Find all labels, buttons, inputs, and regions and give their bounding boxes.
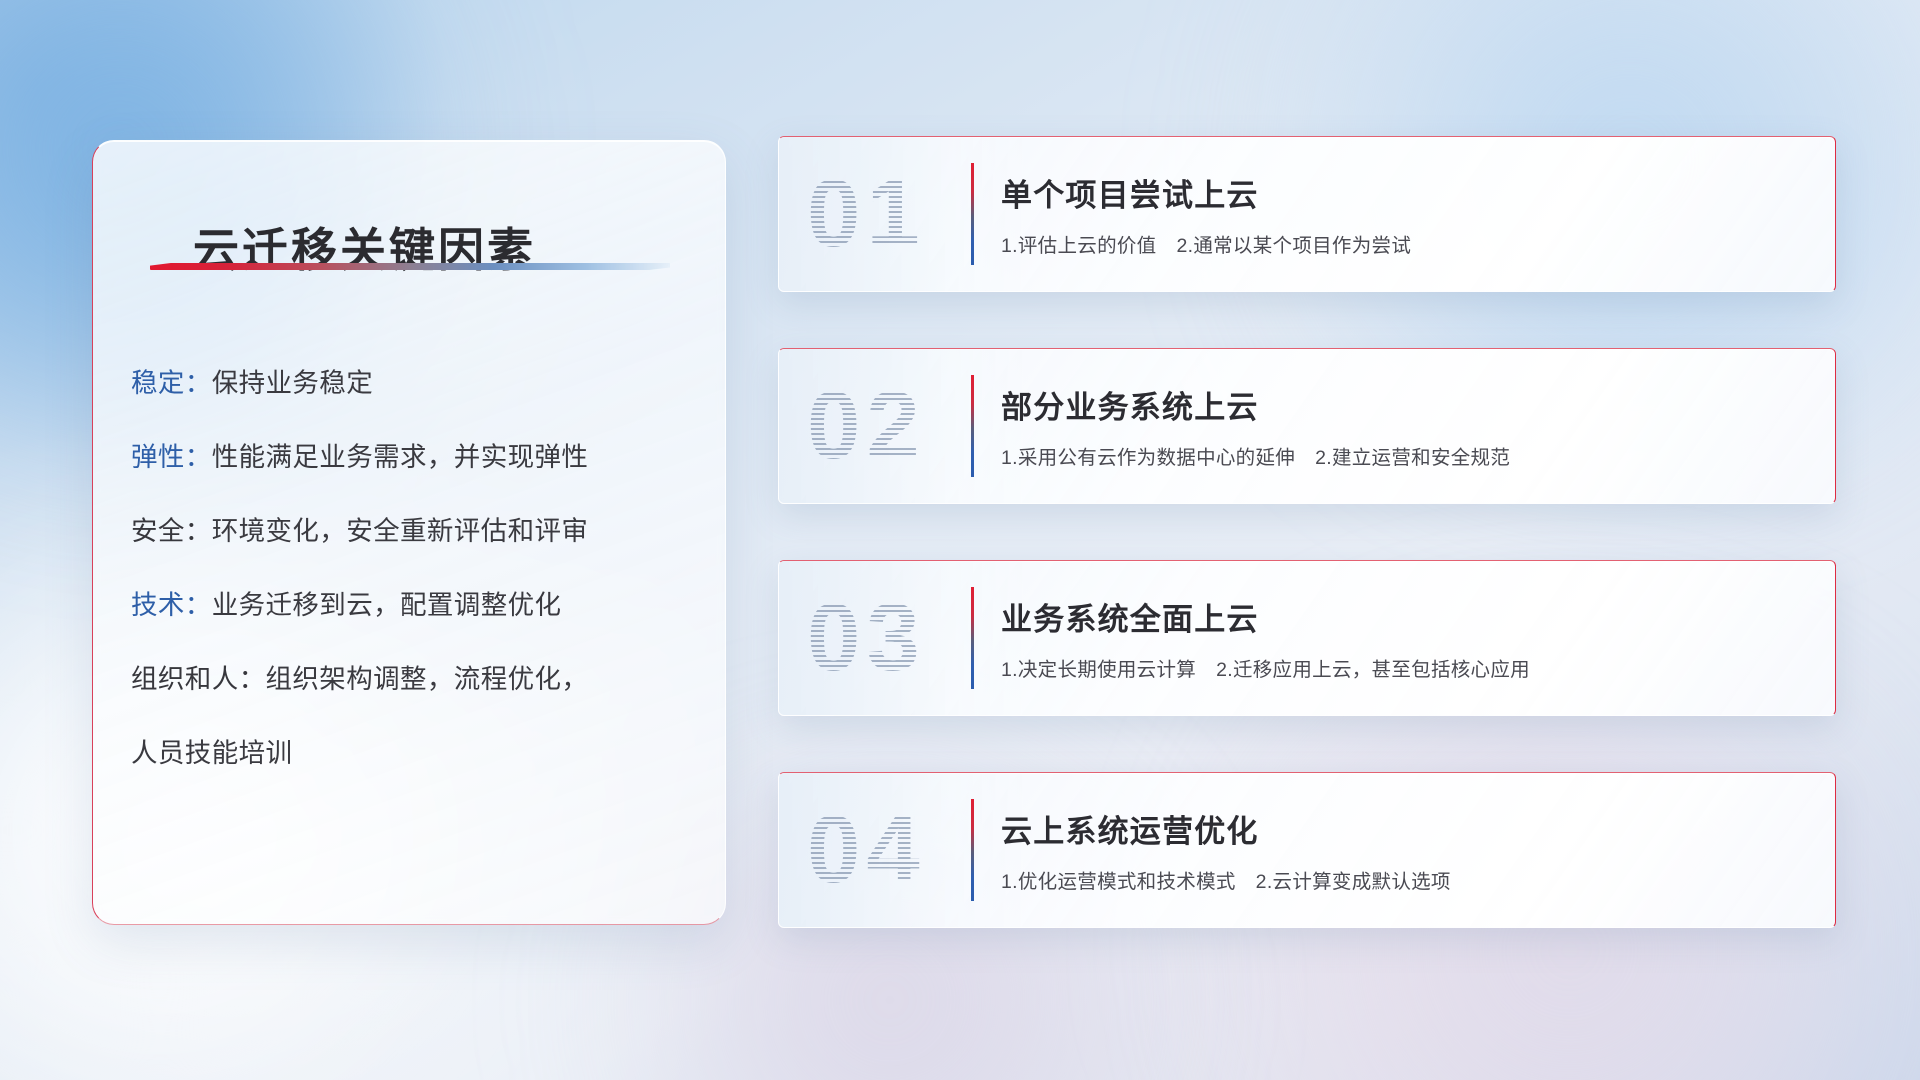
card-divider-accent (971, 799, 974, 901)
card-point-1: 1.决定长期使用云计算 (1001, 659, 1196, 681)
stage-card-01[interactable]: 01单个项目尝试上云1.评估上云的价值2.通常以某个项目作为尝试 (778, 136, 1836, 292)
stage-card-03[interactable]: 03业务系统全面上云1.决定长期使用云计算2.迁移应用上云，甚至包括核心应用 (778, 560, 1836, 716)
card-title: 单个项目尝试上云 (1001, 170, 1809, 215)
factor-text: 性能满足业务需求，并实现弹性 (212, 442, 589, 472)
card-point-2: 2.通常以某个项目作为尝试 (1176, 235, 1411, 257)
stage-number: 01 (807, 166, 926, 262)
slide-canvas: 云迁移关键因素 稳定：保持业务稳定弹性：性能满足业务需求，并实现弹性安全：环境变… (0, 0, 1920, 1080)
card-subtitle: 1.决定长期使用云计算2.迁移应用上云，甚至包括核心应用 (1001, 653, 1809, 682)
card-body: 单个项目尝试上云1.评估上云的价值2.通常以某个项目作为尝试 (1001, 170, 1809, 258)
key-factors-panel: 云迁移关键因素 稳定：保持业务稳定弹性：性能满足业务需求，并实现弹性安全：环境变… (92, 140, 726, 925)
card-body: 业务系统全面上云1.决定长期使用云计算2.迁移应用上云，甚至包括核心应用 (1001, 594, 1809, 682)
card-point-2: 2.建立运营和安全规范 (1315, 447, 1510, 469)
factor-text: 环境变化，安全重新评估和评审 (212, 516, 589, 546)
card-divider-accent (971, 163, 974, 265)
factor-text: 业务迁移到云，配置调整优化 (212, 590, 562, 620)
factor-row: 人员技能培训 (131, 716, 699, 790)
factor-row: 稳定：保持业务稳定 (131, 346, 699, 420)
card-point-1: 1.采用公有云作为数据中心的延伸 (1001, 447, 1295, 469)
factor-label: 技术： (131, 590, 212, 620)
stage-card-04[interactable]: 04云上系统运营优化1.优化运营模式和技术模式2.云计算变成默认选项 (778, 772, 1836, 928)
card-subtitle: 1.评估上云的价值2.通常以某个项目作为尝试 (1001, 229, 1809, 258)
card-title: 云上系统运营优化 (1001, 806, 1809, 851)
migration-stage-card-list: 01单个项目尝试上云1.评估上云的价值2.通常以某个项目作为尝试02部分业务系统… (778, 136, 1836, 984)
factor-list: 稳定：保持业务稳定弹性：性能满足业务需求，并实现弹性安全：环境变化，安全重新评估… (131, 346, 699, 790)
card-subtitle: 1.采用公有云作为数据中心的延伸2.建立运营和安全规范 (1001, 441, 1809, 470)
card-point-2: 2.迁移应用上云，甚至包括核心应用 (1216, 659, 1530, 681)
card-point-1: 1.评估上云的价值 (1001, 235, 1156, 257)
factor-row: 技术：业务迁移到云，配置调整优化 (131, 568, 699, 642)
factor-text: 组织架构调整，流程优化， (266, 664, 589, 694)
title-underline-accent (150, 263, 670, 270)
factor-row: 安全：环境变化，安全重新评估和评审 (131, 494, 699, 568)
factor-text: 人员技能培训 (131, 738, 292, 768)
card-body: 部分业务系统上云1.采用公有云作为数据中心的延伸2.建立运营和安全规范 (1001, 382, 1809, 470)
factor-label: 安全： (131, 516, 212, 546)
card-title: 业务系统全面上云 (1001, 594, 1809, 639)
card-title: 部分业务系统上云 (1001, 382, 1809, 427)
stage-number: 02 (807, 378, 926, 474)
factor-row: 组织和人：组织架构调整，流程优化， (131, 642, 699, 716)
stage-number: 03 (807, 590, 926, 686)
card-body: 云上系统运营优化1.优化运营模式和技术模式2.云计算变成默认选项 (1001, 806, 1809, 894)
stage-number: 04 (807, 802, 926, 898)
card-point-2: 2.云计算变成默认选项 (1256, 871, 1451, 893)
factor-label: 组织和人： (131, 664, 266, 694)
card-subtitle: 1.优化运营模式和技术模式2.云计算变成默认选项 (1001, 865, 1809, 894)
factor-label: 稳定： (131, 368, 212, 398)
factor-text: 保持业务稳定 (212, 368, 373, 398)
factor-row: 弹性：性能满足业务需求，并实现弹性 (131, 420, 699, 494)
card-divider-accent (971, 375, 974, 477)
factor-label: 弹性： (131, 442, 212, 472)
card-point-1: 1.优化运营模式和技术模式 (1001, 871, 1236, 893)
stage-card-02[interactable]: 02部分业务系统上云1.采用公有云作为数据中心的延伸2.建立运营和安全规范 (778, 348, 1836, 504)
card-divider-accent (971, 587, 974, 689)
